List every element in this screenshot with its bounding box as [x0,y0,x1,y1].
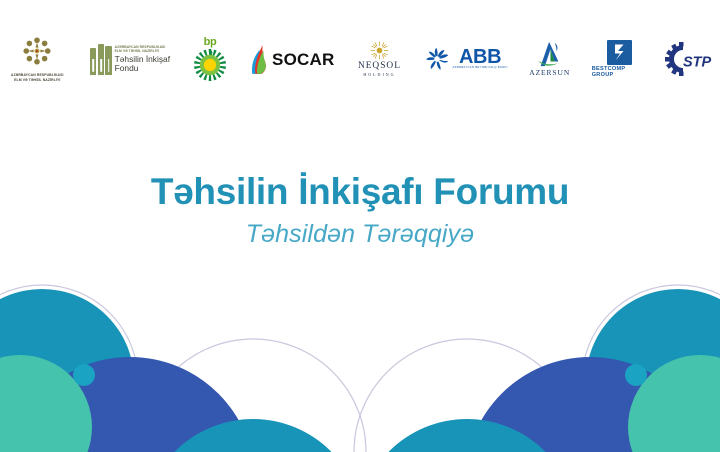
sponsor-logo-ministry-of-science-and-education: AZƏRBAYCAN RESPUBLİKASI ELM VƏ TƏHSİL NA… [1,36,73,82]
sunburst-icon [370,41,389,60]
sponsor-logo-tif-text: AZƏRBAYCAN RESPUBLİKASI ELM VƏ TƏHSİL NA… [115,45,170,74]
sponsor-logo-neqsol-holding: NEQSOL HOLDING [351,41,407,76]
sponsor-logo-bp-wordmark: bp [204,37,217,48]
sponsor-logo-abb-text: ABB AZƏRBAYCAN BEYNƏLXALQ BANKI [452,48,507,70]
sponsor-logo-bestcomp-wordmark: BESTCOMP GROUP [592,67,648,78]
sponsor-logo-bp: bp [187,37,233,82]
sponsor-logo-azersun-wordmark: AZERSUN [529,69,570,77]
sponsor-logo-neqsol-wordmark: NEQSOL [358,61,401,71]
forum-poster: AZƏRBAYCAN RESPUBLİKASI ELM VƏ TƏHSİL NA… [0,0,720,452]
forum-subtitle: Təhsildən Tərəqqiyə [0,221,720,249]
socar-flame-icon [250,44,268,74]
sponsor-logo-tif-ministry-line: AZƏRBAYCAN RESPUBLİKASI ELM VƏ TƏHSİL NA… [115,45,170,54]
helios-sunburst-icon [193,48,227,82]
sponsor-logo-socar-wordmark: SOCAR [272,51,334,68]
svg-text:STP: STP [683,55,712,71]
sponsor-logo-bestcomp-group: BESTCOMP GROUP [592,40,648,78]
sponsor-logo-abb-sub: AZƏRBAYCAN BEYNƏLXALQ BANKI [452,67,507,70]
blue-square-chain-icon [607,40,632,65]
decorative-circles-band [0,277,720,452]
sponsor-logo-neqsol-sub: HOLDING [363,73,395,77]
three-green-pillars-icon [90,44,111,75]
sponsor-logo-tehsilin-inkisaf-fondu: AZƏRBAYCAN RESPUBLİKASI ELM VƏ TƏHSİL NA… [90,44,170,75]
state-emblem-star-icon [22,36,52,71]
sponsor-logo-tif-name: Təhsilin İnkişaf Fondu [115,55,170,74]
sponsor-logo-abb-wordmark: ABB [459,48,501,67]
sponsor-logo-abb: ABB AZƏRBAYCAN BEYNƏLXALQ BANKI [424,46,507,72]
sponsor-logo-strip: AZƏRBAYCAN RESPUBLİKASI ELM VƏ TƏHSİL NA… [0,26,720,92]
gear-cog-icon: STP [665,42,719,76]
forum-title: Təhsilin İnkişafı Forumu [0,172,720,212]
sponsor-logo-ministry-label: AZƏRBAYCAN RESPUBLİKASI ELM VƏ TƏHSİL NA… [11,73,64,82]
sponsor-logo-socar: SOCAR [250,44,334,74]
headline-block: Təhsilin İnkişafı Forumu Təhsildən Tərəq… [0,172,720,248]
sponsor-logo-azersun: AZERSUN [525,40,575,77]
stylized-letter-a-icon [536,40,564,69]
sponsor-logo-stp: STP [665,42,719,76]
pinwheel-swirl-icon [424,46,450,72]
